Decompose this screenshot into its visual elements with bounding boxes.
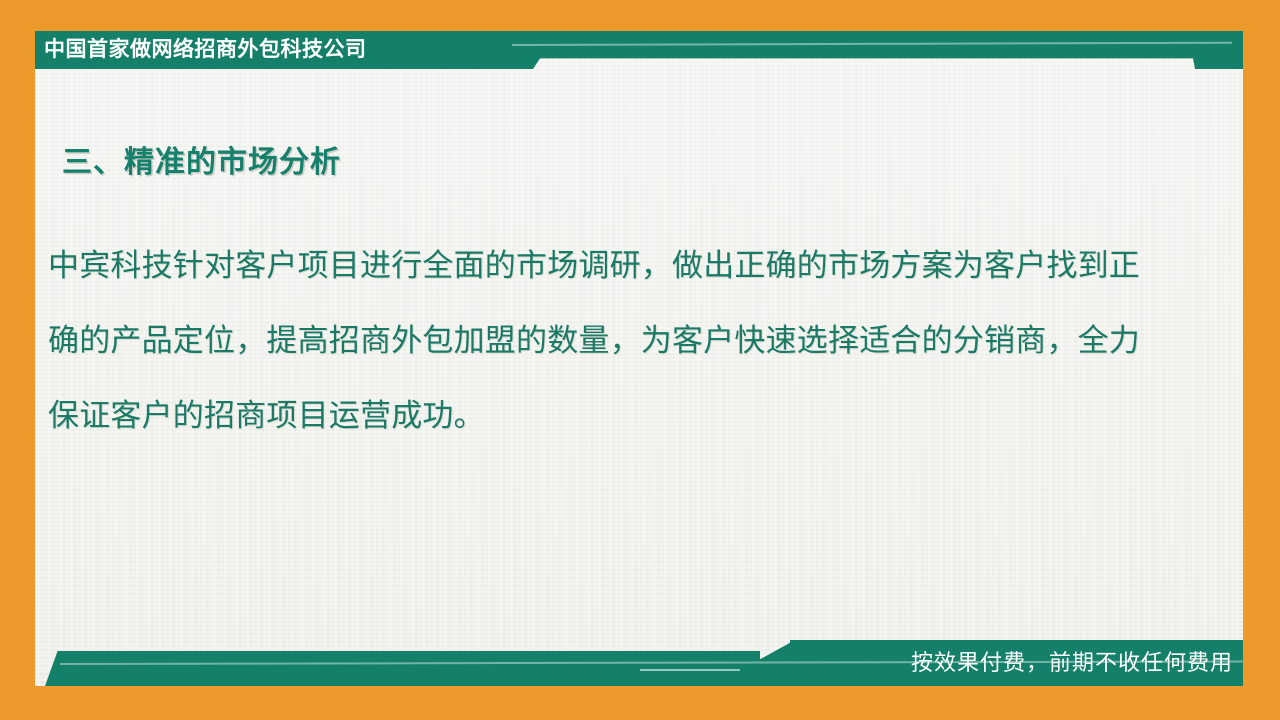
body-line-3: 保证客户的招商项目运营成功。 bbox=[48, 378, 1188, 453]
presentation-slide: 中国首家做网络招商外包科技公司 三、精准的市场分析 中宾科技针对客户项目进行全面… bbox=[0, 0, 1280, 720]
footer-tick-mark bbox=[640, 669, 740, 671]
body-line-2: 确的产品定位，提高招商外包加盟的数量，为客户快速选择适合的分销商，全力 bbox=[48, 303, 1188, 378]
body-line-1: 中宾科技针对客户项目进行全面的市场调研，做出正确的市场方案为客户找到正 bbox=[48, 228, 1188, 303]
body-paragraph: 中宾科技针对客户项目进行全面的市场调研，做出正确的市场方案为客户找到正 确的产品… bbox=[48, 228, 1188, 453]
section-heading: 三、精准的市场分析 bbox=[62, 137, 341, 181]
company-tagline: 中国首家做网络招商外包科技公司 bbox=[44, 33, 367, 67]
footer-slogan: 按效果付费，前期不收任何费用 bbox=[911, 646, 1233, 680]
